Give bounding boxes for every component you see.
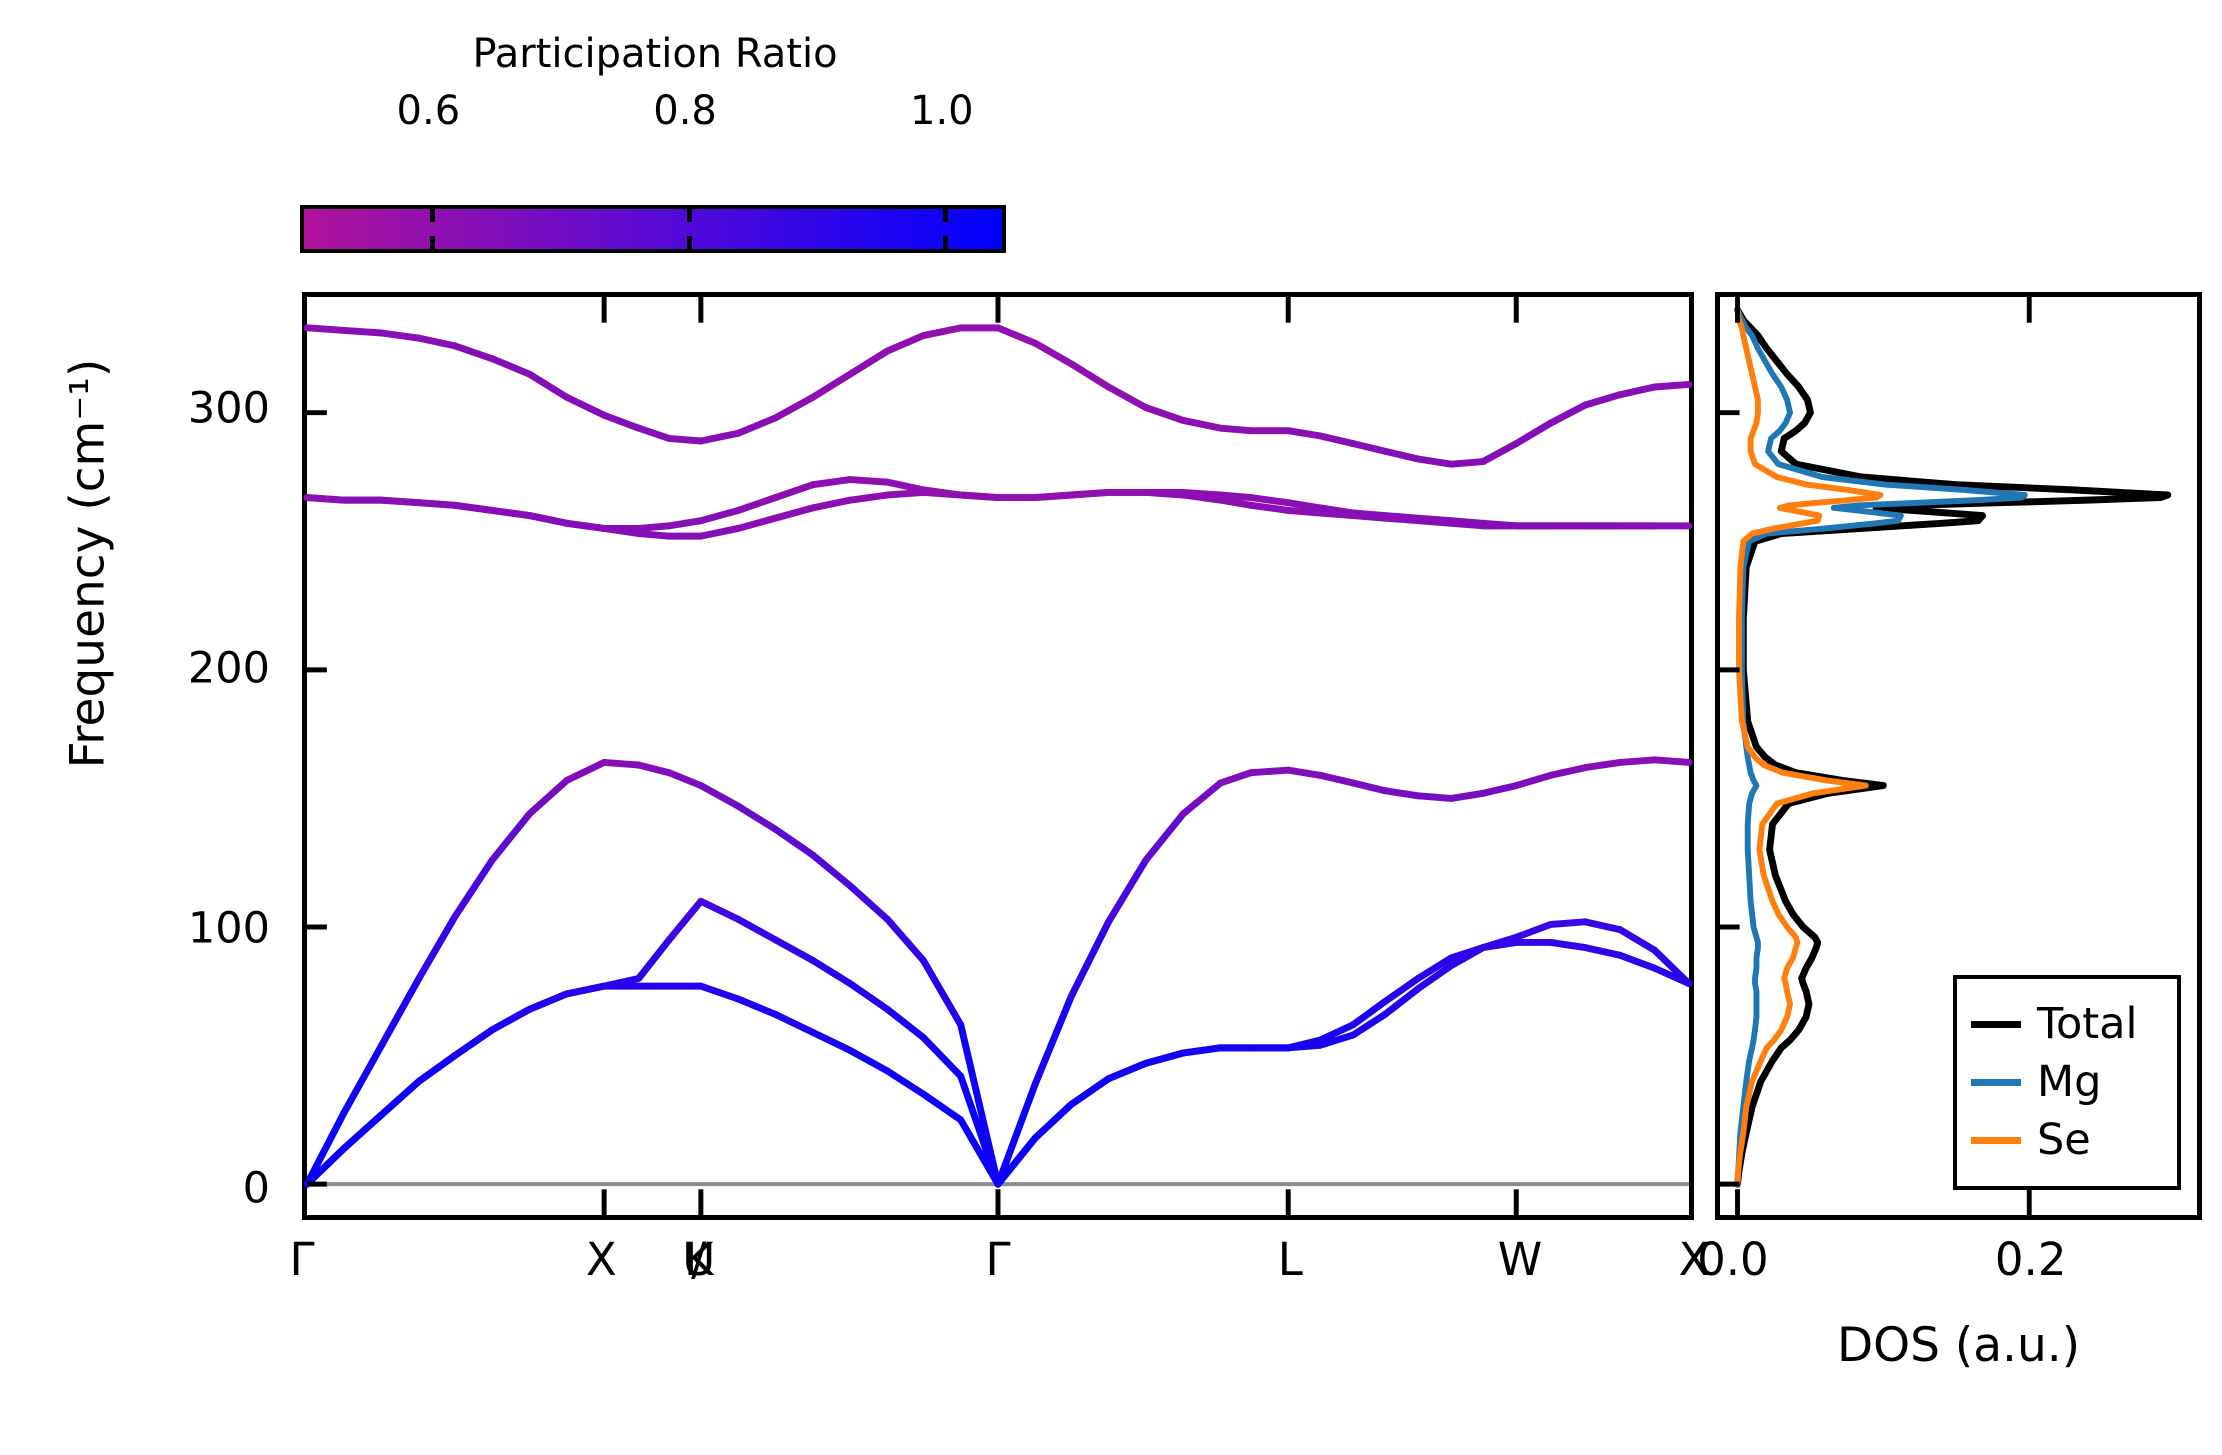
phonon-band-segment	[850, 480, 887, 483]
phonon-band-segment	[1585, 922, 1620, 930]
phonon-band-segment	[701, 901, 738, 919]
x-axis-tick-label: W	[1498, 1232, 1543, 1288]
phonon-band-segment	[1451, 793, 1483, 798]
phonon-band-segment	[1353, 516, 1385, 519]
phonon-band-segment	[492, 1009, 529, 1030]
band-structure-plot	[302, 292, 1694, 1220]
phonon-band-segment	[1288, 770, 1320, 775]
colorbar-tick-mark	[943, 209, 948, 222]
phonon-band-segment	[1418, 796, 1451, 799]
phonon-band-segment	[1320, 436, 1353, 444]
colorbar-tick-label: 0.8	[653, 88, 717, 134]
phonon-band-segment	[850, 1050, 887, 1071]
phonon-band-segment	[1620, 387, 1655, 395]
phonon-band-segment	[701, 986, 738, 999]
phonon-band-segment	[738, 806, 775, 829]
phonon-band-segment	[850, 886, 887, 919]
y-axis-tick-labels: 0100200300	[0, 292, 292, 1220]
phonon-band-segment	[1418, 521, 1451, 524]
phonon-band-segment	[887, 1009, 923, 1037]
colorbar-tick-mark	[687, 209, 692, 222]
phonon-band-segment	[813, 855, 850, 886]
phonon-band-segment	[669, 521, 701, 526]
phonon-band-segment	[1109, 860, 1146, 922]
legend-line-swatch	[1971, 1137, 2021, 1144]
legend-line-swatch	[1971, 1021, 2021, 1028]
phonon-band-segment	[307, 1112, 344, 1184]
phonon-band-segment	[1288, 510, 1320, 513]
dos-x-axis-label: DOS (a.u.)	[1715, 1318, 2202, 1374]
y-axis-tick-label: 100	[188, 907, 270, 950]
phonon-band-segment	[1288, 503, 1320, 508]
phonon-band-segment	[1483, 444, 1516, 462]
phonon-band-segment	[669, 438, 701, 441]
phonon-band-segment	[382, 500, 419, 503]
colorbar-tick-label: 1.0	[910, 88, 974, 134]
phonon-band-segment	[344, 1115, 381, 1148]
dos-x-axis-tick-label: 0.0	[1697, 1232, 1769, 1288]
phonon-band-segment	[1035, 343, 1071, 364]
phonon-band-segment	[1353, 783, 1385, 791]
phonon-band-segment	[961, 1025, 998, 1184]
x-axis-tick-label: Γ	[985, 1232, 1010, 1288]
x-axis-tick-label: L	[1278, 1232, 1303, 1288]
phonon-band-segment	[639, 428, 669, 438]
band-structure-curves	[307, 297, 1689, 1215]
legend-item-se: Se	[1971, 1111, 2163, 1169]
phonon-band-segment	[1146, 814, 1183, 860]
colorbar-tick-labels: 0.60.81.0	[300, 88, 1010, 134]
phonon-band-segment	[813, 480, 850, 485]
phonon-band-segment	[1071, 1079, 1108, 1105]
phonon-band-segment	[1251, 505, 1288, 510]
phonon-band-segment	[1183, 783, 1220, 814]
phonon-band-segment	[604, 415, 639, 428]
phonon-band-segment	[775, 829, 812, 855]
phonon-band-segment	[567, 986, 604, 994]
phonon-band-segment	[639, 534, 669, 537]
phonon-band-segment	[738, 999, 775, 1014]
phonon-band-segment	[1320, 775, 1353, 783]
phonon-band-segment	[567, 523, 604, 528]
phonon-band-segment	[639, 765, 669, 773]
phonon-band-segment	[1251, 770, 1288, 773]
phonon-band-segment	[701, 786, 738, 807]
phonon-band-segment	[455, 1030, 492, 1056]
phonon-band-segment	[639, 526, 669, 529]
dos-x-axis-tick-labels: 0.00.2	[1715, 1232, 2202, 1302]
phonon-band-segment	[998, 1084, 1035, 1184]
phonon-band-segment	[492, 510, 529, 515]
phonon-band-segment	[455, 346, 492, 359]
phonon-band-segment	[1071, 492, 1108, 495]
phonon-band-segment	[1385, 518, 1418, 521]
phonon-band-segment	[639, 940, 669, 979]
phonon-band-segment	[1320, 513, 1353, 516]
phonon-band-segment	[775, 397, 812, 418]
colorbar-gradient	[304, 209, 1002, 249]
phonon-band-segment	[923, 328, 960, 336]
figure-canvas: Participation Ratio 0.60.81.0 Frequency …	[0, 0, 2222, 1455]
phonon-band-segment	[1071, 922, 1108, 997]
phonon-band-segment	[813, 500, 850, 508]
phonon-band-segment	[1221, 428, 1251, 431]
phonon-band-segment	[887, 492, 923, 495]
phonon-band-segment	[1146, 408, 1183, 421]
phonon-band-segment	[1551, 922, 1586, 925]
phonon-band-segment	[1221, 773, 1251, 783]
phonon-band-segment	[567, 397, 604, 415]
phonon-band-segment	[1035, 996, 1071, 1083]
phonon-band-segment	[1071, 364, 1108, 387]
phonon-band-segment	[419, 338, 455, 346]
phonon-band-segment	[1551, 405, 1586, 423]
phonon-band-segment	[1109, 1063, 1146, 1078]
phonon-band-segment	[701, 510, 738, 520]
legend-item-mg: Mg	[1971, 1053, 2163, 1111]
phonon-band-segment	[738, 418, 775, 433]
phonon-band-segment	[1183, 1048, 1220, 1053]
colorbar-tick-mark	[430, 236, 435, 249]
phonon-band-segment	[419, 503, 455, 506]
phonon-band-segment	[307, 328, 344, 331]
dos-legend: TotalMgSe	[1953, 975, 2181, 1190]
phonon-band-segment	[1451, 462, 1483, 465]
phonon-band-segment	[738, 919, 775, 940]
y-axis-tick-label: 200	[188, 647, 270, 690]
phonon-band-segment	[1418, 459, 1451, 464]
phonon-band-segment	[923, 960, 960, 1024]
phonon-band-segment	[738, 498, 775, 511]
phonon-band-segment	[1516, 423, 1551, 444]
phonon-band-segment	[1620, 760, 1655, 763]
x-axis-tick-label: Γ	[289, 1232, 314, 1288]
phonon-band-segment	[850, 351, 887, 374]
phonon-band-segment	[887, 919, 923, 960]
phonon-band-segment	[1654, 384, 1689, 387]
phonon-band-segment	[530, 780, 567, 813]
phonon-band-segment	[307, 498, 344, 501]
colorbar-tick-mark	[687, 236, 692, 249]
phonon-band-segment	[344, 1045, 381, 1112]
legend-line-swatch	[1971, 1079, 2021, 1086]
phonon-band-segment	[701, 528, 738, 536]
phonon-band-segment	[1451, 523, 1483, 526]
colorbar-tick-mark	[430, 209, 435, 222]
phonon-band-segment	[567, 762, 604, 780]
y-axis-tick-label: 300	[188, 387, 270, 430]
phonon-band-segment	[1221, 500, 1251, 505]
phonon-band-segment	[775, 940, 812, 961]
colorbar-tick-mark	[943, 236, 948, 249]
phonon-band-segment	[1221, 495, 1251, 498]
legend-label: Mg	[2037, 1061, 2101, 1104]
phonon-band-segment	[1551, 768, 1586, 776]
phonon-band-segment	[604, 762, 639, 765]
phonon-band-segment	[1353, 444, 1385, 452]
phonon-band-segment	[775, 508, 812, 518]
phonon-band-segment	[923, 1038, 960, 1077]
phonon-band-segment	[813, 1032, 850, 1050]
phonon-band-segment	[669, 773, 701, 786]
phonon-band-segment	[1585, 948, 1620, 956]
x-axis-tick-label: X	[586, 1232, 617, 1288]
colorbar-title: Participation Ratio	[300, 30, 1010, 78]
phonon-band-segment	[1183, 420, 1220, 428]
phonon-band-segment	[701, 433, 738, 441]
phonon-band-segment	[530, 994, 567, 1009]
phonon-band-segment	[998, 328, 1035, 343]
phonon-band-segment	[530, 374, 567, 397]
phonon-band-segment	[1288, 431, 1320, 436]
phonon-band-segment	[1483, 786, 1516, 794]
phonon-band-segment	[382, 978, 419, 1045]
phonon-band-segment	[669, 901, 701, 940]
legend-label: Se	[2037, 1119, 2091, 1162]
phonon-band-segment	[492, 359, 529, 374]
phonon-band-segment	[382, 1081, 419, 1114]
phonon-band-segment	[1654, 760, 1689, 763]
phonon-band-segment	[1451, 948, 1483, 958]
phonon-band-segment	[1385, 451, 1418, 459]
phonon-band-segment	[419, 1056, 455, 1082]
legend-label: Total	[2037, 1003, 2137, 1046]
phonon-band-segment	[455, 860, 492, 917]
phonon-band-segment	[1620, 955, 1655, 968]
phonon-band-segment	[1620, 930, 1655, 951]
phonon-band-segment	[813, 374, 850, 397]
phonon-band-segment	[850, 984, 887, 1010]
phonon-band-segment	[887, 482, 923, 490]
phonon-band-segment	[1035, 495, 1071, 498]
phonon-band-segment	[530, 516, 567, 524]
phonon-band-segment	[1146, 492, 1183, 495]
phonon-band-segment	[850, 495, 887, 500]
y-axis-tick-label: 0	[243, 1167, 270, 1210]
phonon-band-segment	[775, 1014, 812, 1032]
phonon-band-segment	[1146, 1053, 1183, 1063]
phonon-band-segment	[1516, 775, 1551, 785]
phonon-band-segment	[887, 1071, 923, 1094]
phonon-band-segment	[1035, 1104, 1071, 1137]
phonon-band-segment	[344, 330, 381, 333]
colorbar-tick-label: 0.6	[397, 88, 461, 134]
dos-x-axis-tick-label: 0.2	[1995, 1232, 2067, 1288]
legend-item-total: Total	[1971, 995, 2163, 1053]
phonon-band-segment	[813, 960, 850, 983]
phonon-band-segment	[887, 336, 923, 351]
colorbar	[300, 205, 1006, 253]
phonon-band-segment	[961, 495, 998, 498]
phonon-band-segment	[1251, 498, 1288, 503]
phonon-band-segment	[382, 333, 419, 338]
phonon-band-segment	[1585, 395, 1620, 405]
phonon-band-segment	[1551, 942, 1586, 947]
phonon-band-segment	[738, 518, 775, 528]
phonon-band-segment	[923, 1094, 960, 1120]
phonon-band-segment	[455, 505, 492, 510]
phonon-band-segment	[492, 814, 529, 860]
phonon-band-segment	[419, 917, 455, 979]
phonon-band-segment	[1585, 762, 1620, 767]
phonon-band-segment	[775, 485, 812, 498]
x-axis-tick-labels: ΓXU/KΓLWX	[302, 1232, 1694, 1322]
phonon-band-segment	[1516, 924, 1551, 937]
phonon-band-segment	[1109, 387, 1146, 408]
phonon-band-segment	[1385, 791, 1418, 796]
